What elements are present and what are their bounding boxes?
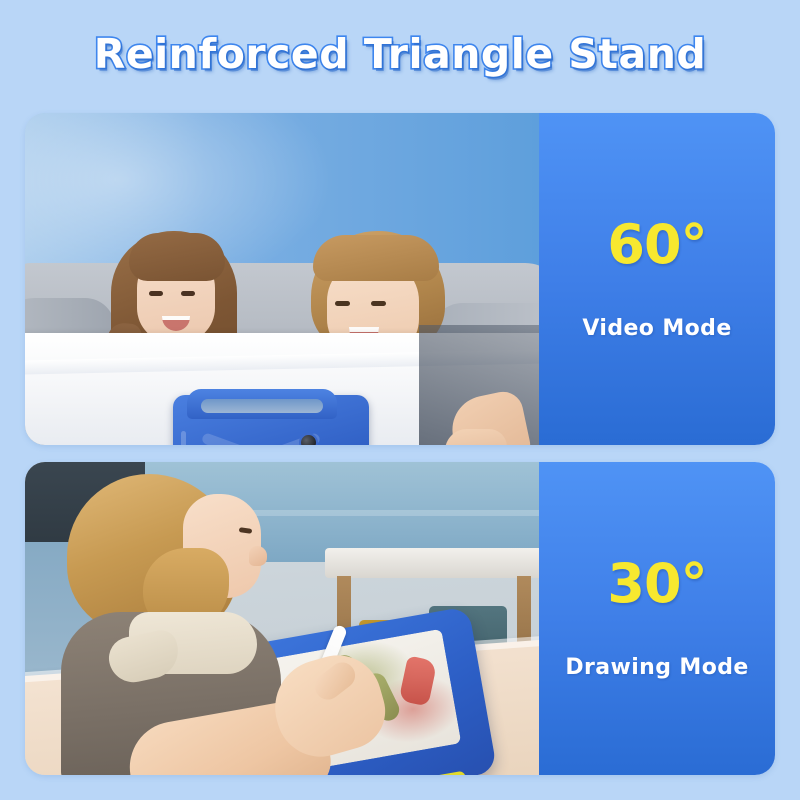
photo-girl-eye-right [181,291,195,296]
feature-card-video-mode: 60° Video Mode [25,113,775,445]
product-photo-drawing-mode [25,462,539,775]
product-photo-video-mode [25,113,539,445]
photo-coffee-table-top [325,548,539,578]
photo-boy-hand [445,429,507,445]
feature-card-drawing-mode: 30° Drawing Mode [25,462,775,775]
angle-value-video: 60° [607,218,706,272]
photo-boy-eye-right [371,301,386,306]
mode-label-video: Video Mode [582,316,731,341]
mode-label-drawing: Drawing Mode [565,655,748,680]
info-panel-drawing-mode: 30° Drawing Mode [539,462,775,775]
angle-value-drawing: 30° [607,557,706,611]
photo-boy-eye-left [335,301,350,306]
photo-tablet-camera [299,433,318,445]
info-panel-video-mode: 60° Video Mode [539,113,775,445]
photo-case-side-buttons [181,431,186,445]
photo-boy-fringe [313,235,439,281]
photo-girl-fringe [129,233,225,281]
photo-case-handle-opening [201,399,323,413]
photo-girl-eye-left [149,291,163,296]
page-title: Reinforced Triangle Stand [94,30,707,78]
title-bar: Reinforced Triangle Stand [0,0,800,108]
photo-girl2-nose [249,546,267,566]
